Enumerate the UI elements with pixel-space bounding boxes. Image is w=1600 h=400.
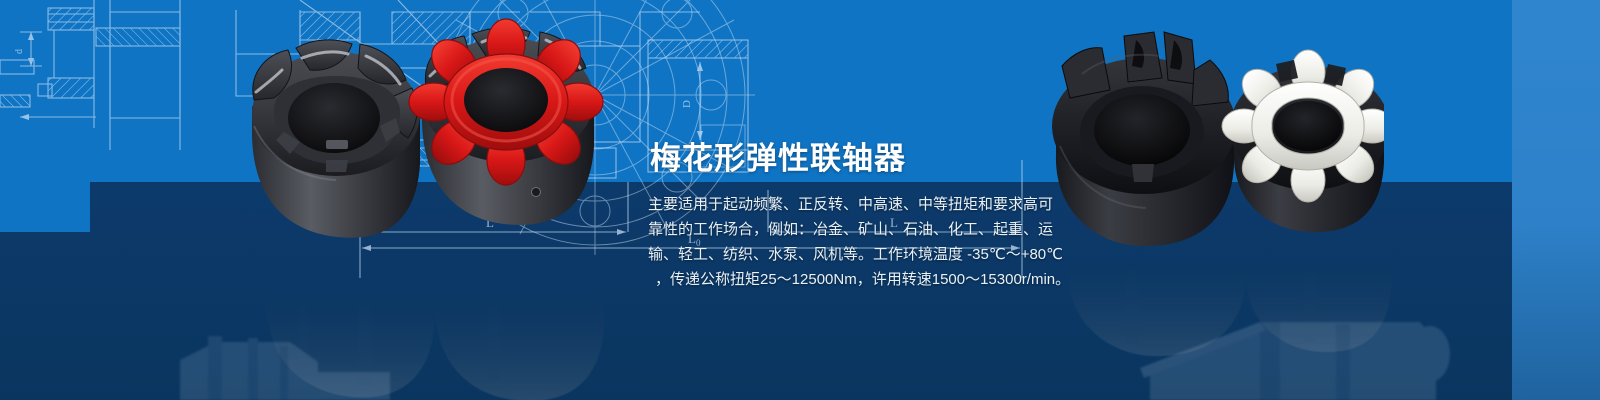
background-machine-ghost-left [120,318,440,400]
description-line-3: 输、轻工、纺织、水泵、风机等。工作环境温度 -35℃～+80℃ [648,242,1048,267]
coupling-black-left [252,40,420,238]
background-machine-ghost-right [1140,312,1540,400]
svg-text:d: d [14,49,25,54]
product-description: 主要适用于起动频繁、正反转、中高速、中等扭矩和要求高可 靠性的工作场合，例如：冶… [648,192,1048,292]
product-image-left-pair [230,14,630,294]
description-line-4: ，传递公称扭矩25～12500Nm，许用转速1500～15300r/min。 [648,267,1048,292]
description-line-1: 主要适用于起动频繁、正反转、中高速、中等扭矩和要求高可 [648,192,1048,217]
page-title: 梅花形弹性联轴器 [650,133,906,178]
product-image-right-pair [1024,14,1384,264]
product-banner: d [0,0,1600,400]
coupling-red-spider [409,19,603,225]
coupling-white-spider [1222,50,1384,232]
coupling-black-right [1052,32,1236,246]
description-line-2: 靠性的工作场合，例如：冶金、矿山、石油、化工、起重、运 [648,217,1048,242]
